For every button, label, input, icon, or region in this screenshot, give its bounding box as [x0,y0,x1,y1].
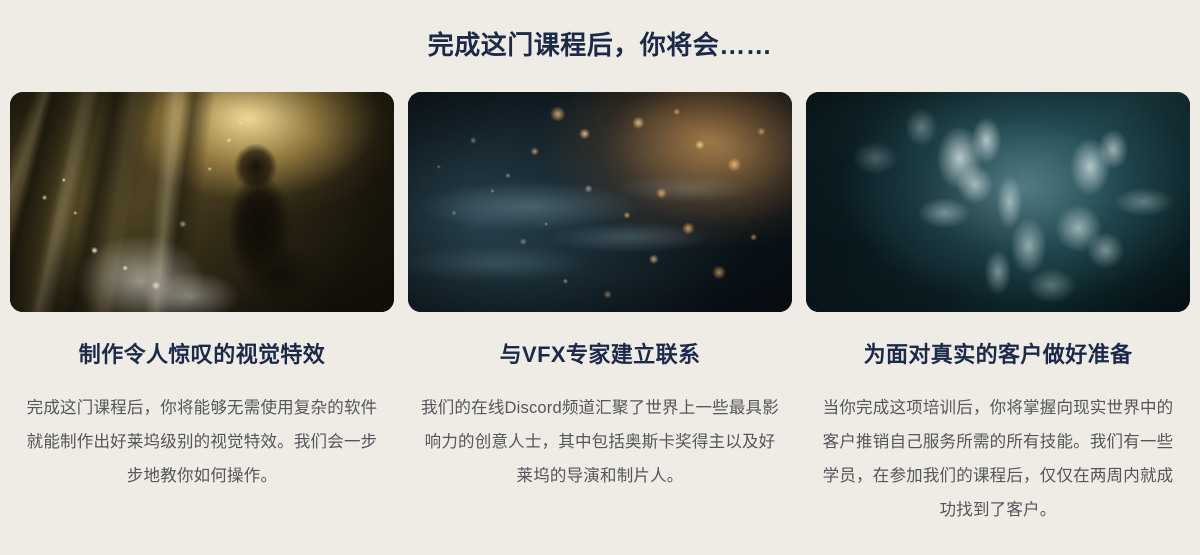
benefits-section: 完成这门课程后，你将会…… 制作令人惊叹的视觉特效 完成这门课程后，你将能够无需… [0,0,1200,555]
benefit-cards-row: 制作令人惊叹的视觉特效 完成这门课程后，你将能够无需使用复杂的软件就能制作出好莱… [10,92,1190,527]
vignette-layer [806,92,1190,312]
benefit-card-title: 制作令人惊叹的视觉特效 [79,341,325,370]
benefit-card: 为面对真实的客户做好准备 当你完成这项培训后，你将掌握向现实世界中的客户推销自己… [806,92,1190,527]
vignette-layer [408,92,792,312]
vfx-ember-particles-image [408,92,792,312]
benefit-card-body: 完成这门课程后，你将能够无需使用复杂的软件就能制作出好莱坞级别的视觉特效。我们会… [19,391,385,493]
vignette-layer [10,92,394,312]
benefit-card-body: 我们的在线Discord频道汇聚了世界上一些最具影响力的创意人士，其中包括奥斯卡… [417,391,783,493]
benefit-card: 制作令人惊叹的视觉特效 完成这门课程后，你将能够无需使用复杂的软件就能制作出好莱… [10,92,394,527]
vfx-water-splash-figure-image [10,92,394,312]
vfx-teal-smoke-image [806,92,1190,312]
benefit-card-title: 为面对真实的客户做好准备 [864,341,1133,370]
benefit-card-body: 当你完成这项培训后，你将掌握向现实世界中的客户推销自己服务所需的所有技能。我们有… [815,391,1181,527]
benefit-card: 与VFX专家建立联系 我们的在线Discord频道汇聚了世界上一些最具影响力的创… [408,92,792,527]
benefit-card-title: 与VFX专家建立联系 [500,341,701,370]
page-title: 完成这门课程后，你将会…… [0,29,1200,62]
